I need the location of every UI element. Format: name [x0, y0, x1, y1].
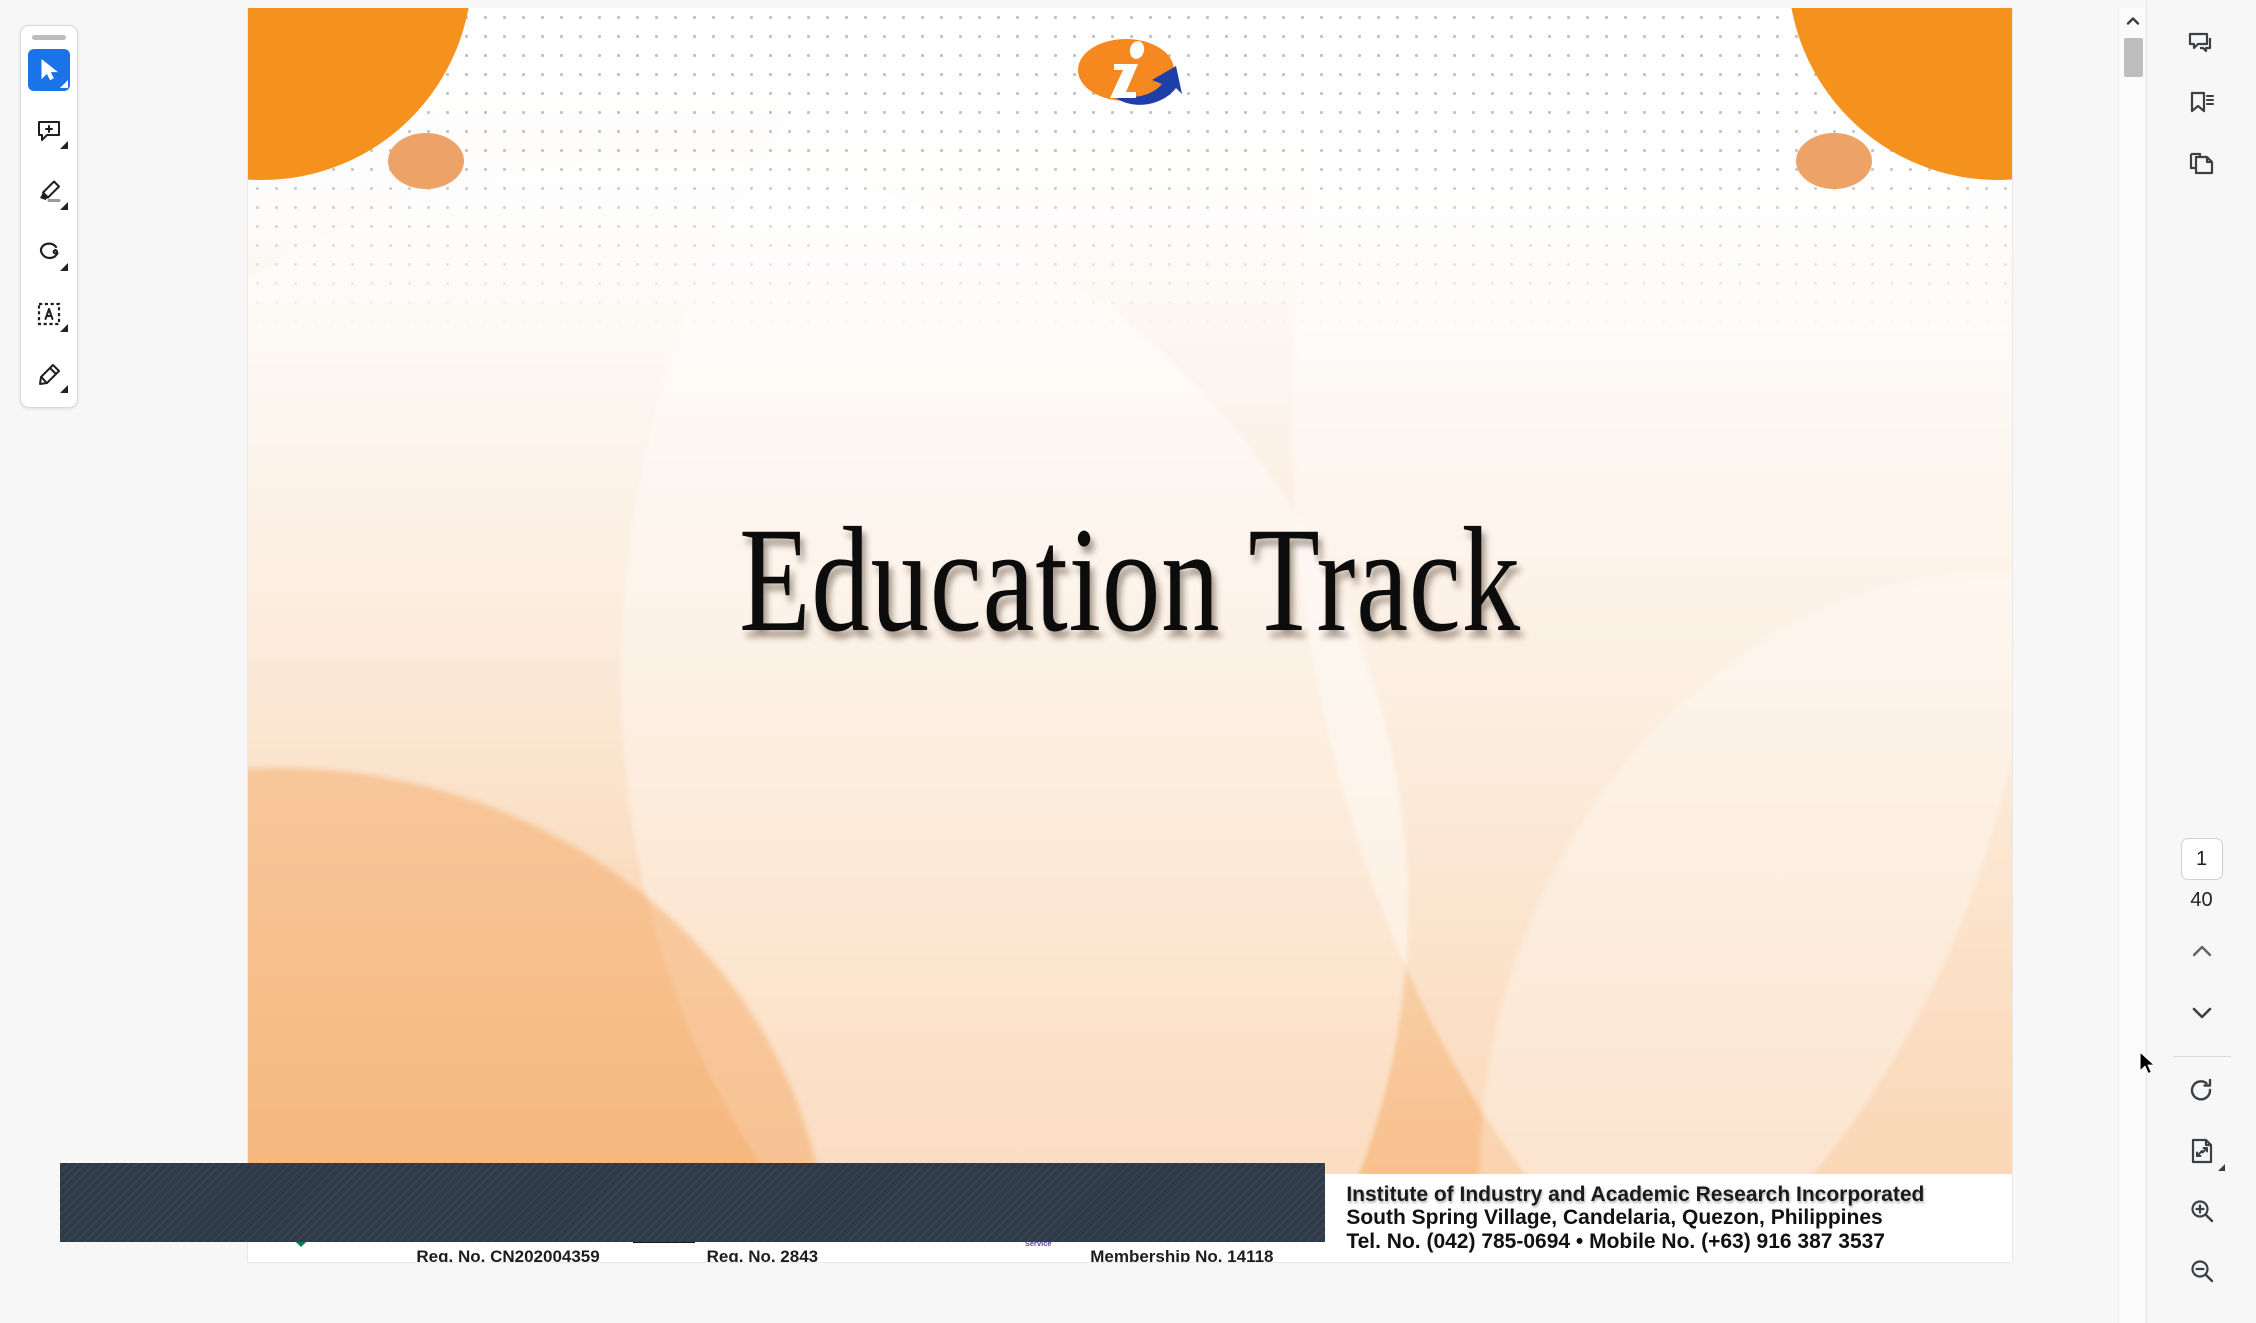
institute-address-block: Institute of Industry and Academic Resea…: [1346, 1183, 1924, 1254]
rotate-clockwise-icon: [2188, 1077, 2216, 1105]
pen-signature-icon: [36, 362, 62, 388]
chevron-down-icon: [2189, 999, 2215, 1025]
mouse-cursor: [2139, 1051, 2159, 1084]
tool-options-corner-icon[interactable]: [60, 80, 68, 88]
comments-panel-button[interactable]: [2176, 18, 2228, 70]
speech-bubbles-icon: [2187, 29, 2217, 59]
address-line-1: Institute of Industry and Academic Resea…: [1346, 1183, 1924, 1207]
select-tool[interactable]: [28, 49, 70, 91]
address-line-2: South Spring Village, Candelaria, Quezon…: [1346, 1206, 1924, 1230]
signature-tool[interactable]: [28, 354, 70, 396]
thumbnails-panel-button[interactable]: [2176, 138, 2228, 190]
zoom-in-button[interactable]: [2176, 1185, 2228, 1237]
text-select-tool[interactable]: [28, 293, 70, 335]
page-number-value: 1: [2196, 848, 2207, 871]
sec-badge-reg: Reg. No. CN202004359: [416, 1248, 602, 1262]
chevron-up-icon: [2189, 939, 2215, 965]
zoom-out-button[interactable]: [2176, 1245, 2228, 1297]
next-page-button[interactable]: [2176, 986, 2228, 1038]
tool-options-corner-icon[interactable]: [60, 141, 68, 149]
pdf-viewer-app: Education Track Securities and: [0, 0, 2256, 1323]
cpd-badge-reg: Membership No. 14118: [1090, 1248, 1320, 1262]
zoom-out-icon: [2188, 1257, 2216, 1285]
pages-stack-icon: [2187, 149, 2217, 179]
nbdb-badge-reg: Reg. No. 2843: [707, 1248, 969, 1262]
cursor-arrow-icon: [37, 58, 61, 82]
toolbar-drag-handle[interactable]: [32, 35, 66, 40]
lasso-loop-icon: [36, 240, 62, 266]
document-viewport[interactable]: Education Track Securities and: [0, 8, 2146, 1323]
fit-page-button[interactable]: [2176, 1125, 2228, 1177]
page-number-input[interactable]: 1: [2181, 838, 2223, 880]
publisher-logo: [1076, 36, 1184, 112]
tool-options-corner-icon[interactable]: [60, 324, 68, 332]
zoom-in-icon: [2188, 1197, 2216, 1225]
add-comment-tool[interactable]: [28, 110, 70, 152]
rotate-button[interactable]: [2176, 1065, 2228, 1117]
comment-plus-icon: [36, 118, 62, 144]
orange-accent-ellipse-left: [388, 133, 464, 189]
previous-page-button[interactable]: [2176, 926, 2228, 978]
tool-options-corner-icon[interactable]: [60, 385, 68, 393]
annotation-toolbar[interactable]: [20, 25, 78, 408]
text-box-icon: [36, 301, 62, 327]
page-total-label: 40: [2190, 889, 2212, 912]
bookmark-list-icon: [2187, 89, 2217, 119]
bookmarks-panel-button[interactable]: [2176, 78, 2228, 130]
fit-page-icon: [2188, 1137, 2216, 1165]
highlight-tool[interactable]: [28, 171, 70, 213]
address-line-3: Tel. No. (042) 785-0694 • Mobile No. (+6…: [1346, 1230, 1924, 1254]
orange-accent-ellipse-right: [1796, 133, 1872, 189]
scrollbar-thumb[interactable]: [2124, 38, 2143, 77]
tool-options-corner-icon[interactable]: [60, 202, 68, 210]
tool-options-corner-icon[interactable]: [60, 263, 68, 271]
chevron-up-icon: [2125, 13, 2141, 29]
slide-page-1: Education Track Securities and: [248, 8, 2012, 1262]
fit-options-corner-icon[interactable]: [2218, 1164, 2225, 1171]
slide-title: Education Track: [442, 505, 1818, 655]
right-sidebar[interactable]: 1 40: [2146, 0, 2256, 1323]
document-scrollbar[interactable]: [2118, 8, 2146, 1323]
dark-annotation-overlay[interactable]: [60, 1163, 1325, 1242]
freehand-tool[interactable]: [28, 232, 70, 274]
scroll-up-button[interactable]: [2119, 8, 2146, 34]
rail-divider: [2173, 1056, 2231, 1057]
highlighter-icon: [36, 179, 62, 205]
